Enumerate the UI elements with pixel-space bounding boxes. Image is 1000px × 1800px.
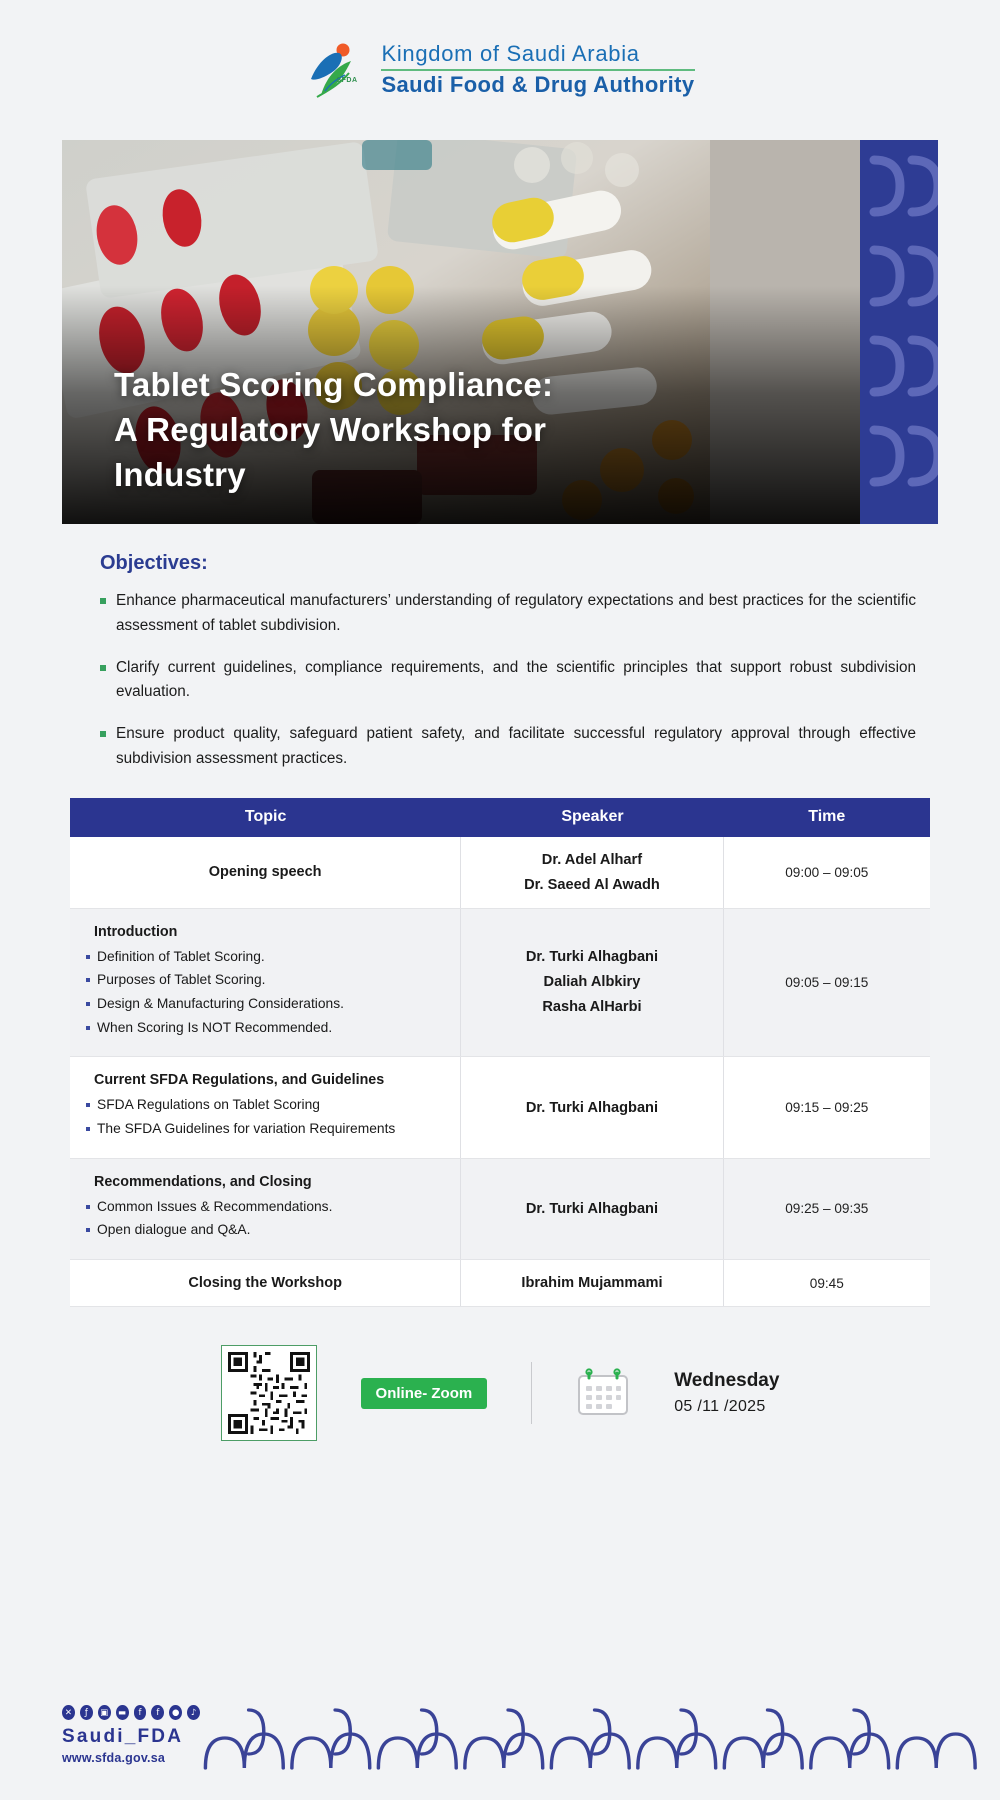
table-row: IntroductionDefinition of Tablet Scoring…: [70, 909, 930, 1058]
page-footer: ✕ƒ▣▬ff●♪ Saudi_FDA www.sfda.gov.sa: [0, 1670, 1000, 1800]
hero-title-line1: Tablet Scoring Compliance:: [114, 363, 820, 408]
bullet-icon: [86, 955, 90, 959]
cell-speaker: Dr. Turki Alhagbani: [461, 1159, 723, 1259]
social-block: ✕ƒ▣▬ff●♪ Saudi_FDA www.sfda.gov.sa: [0, 1705, 200, 1765]
bullet-icon: [100, 665, 106, 671]
time-value: 09:45: [810, 1276, 844, 1291]
social-icon[interactable]: ƒ: [80, 1705, 93, 1720]
topic-title: Opening speech: [86, 852, 444, 893]
topic-bullet-item: When Scoring Is NOT Recommended.: [86, 1018, 444, 1039]
cell-time: 09:25 – 09:35: [724, 1159, 930, 1259]
column-header-topic: Topic: [70, 808, 461, 826]
table-row: Recommendations, and ClosingCommon Issue…: [70, 1159, 930, 1260]
topic-bullet-text: When Scoring Is NOT Recommended.: [97, 1018, 332, 1039]
org-name-line1: Kingdom of Saudi Arabia: [381, 42, 694, 67]
time-value: 09:25 – 09:35: [785, 1201, 868, 1216]
online-zoom-badge[interactable]: Online- Zoom: [361, 1378, 488, 1409]
topic-bullet-item: Purposes of Tablet Scoring.: [86, 970, 444, 991]
topic-bullet-item: Open dialogue and Q&A.: [86, 1220, 444, 1241]
logo-sfda-text: SFDA: [336, 77, 357, 84]
event-day-name: Wednesday: [674, 1367, 779, 1396]
hero-image: Tablet Scoring Compliance: A Regulatory …: [62, 140, 860, 524]
bullet-icon: [100, 731, 106, 737]
speaker-name: Daliah Albkiry: [544, 974, 641, 990]
cell-time: 09:15 – 09:25: [724, 1057, 930, 1157]
topic-bullet-item: SFDA Regulations on Tablet Scoring: [86, 1095, 444, 1116]
social-icon[interactable]: ✕: [62, 1705, 75, 1720]
social-icon[interactable]: ▬: [116, 1705, 129, 1720]
table-body: Opening speechDr. Adel AlharfDr. Saeed A…: [70, 837, 930, 1308]
social-icon[interactable]: f: [151, 1705, 164, 1720]
event-date-value: 05 /11 /2025: [674, 1395, 779, 1419]
speaker-name: Dr. Adel Alharf: [542, 852, 642, 868]
bullet-icon: [86, 1002, 90, 1006]
website-url[interactable]: www.sfda.gov.sa: [62, 1751, 200, 1765]
topic-title: Introduction: [86, 924, 444, 940]
topic-title: Current SFDA Regulations, and Guidelines: [86, 1072, 444, 1088]
topic-bullet-text: SFDA Regulations on Tablet Scoring: [97, 1095, 320, 1116]
objective-text: Ensure product quality, safeguard patien…: [116, 722, 916, 772]
event-date: Wednesday 05 /11 /2025: [674, 1367, 779, 1420]
social-icons[interactable]: ✕ƒ▣▬ff●♪: [62, 1705, 200, 1720]
hero-title-line3: Industry: [114, 453, 820, 498]
hero-side-pattern: [860, 140, 938, 524]
table-row: Current SFDA Regulations, and Guidelines…: [70, 1057, 930, 1158]
bullet-icon: [86, 1228, 90, 1232]
time-value: 09:00 – 09:05: [785, 865, 868, 880]
objective-text: Enhance pharmaceutical manufacturers’ un…: [116, 589, 916, 639]
org-name-line2: Saudi Food & Drug Authority: [381, 73, 694, 98]
social-handle: Saudi_FDA: [62, 1726, 200, 1748]
bullet-icon: [86, 978, 90, 982]
cell-speaker: Dr. Adel AlharfDr. Saeed Al Awadh: [461, 837, 723, 908]
objectives-section: Objectives: Enhance pharmaceutical manuf…: [100, 552, 938, 772]
social-icon[interactable]: ♪: [187, 1705, 200, 1720]
time-value: 09:05 – 09:15: [785, 975, 868, 990]
time-value: 09:15 – 09:25: [785, 1100, 868, 1115]
bullet-icon: [86, 1103, 90, 1107]
cell-topic: IntroductionDefinition of Tablet Scoring…: [70, 909, 461, 1057]
qr-code[interactable]: [221, 1345, 317, 1441]
topic-bullet-text: Open dialogue and Q&A.: [97, 1220, 250, 1241]
column-header-speaker: Speaker: [461, 808, 723, 826]
logo-divider: [381, 69, 694, 71]
table-row: Closing the WorkshopIbrahim Mujammami09:…: [70, 1260, 930, 1307]
brand-header: SFDA Kingdom of Saudi Arabia Saudi Food …: [0, 0, 1000, 140]
social-icon[interactable]: ●: [169, 1705, 182, 1720]
topic-bullet-item: Common Issues & Recommendations.: [86, 1197, 444, 1218]
bullet-icon: [86, 1205, 90, 1209]
cell-topic: Closing the Workshop: [70, 1260, 461, 1306]
sfda-logo-icon: SFDA: [305, 39, 367, 101]
objectives-heading: Objectives:: [100, 552, 938, 575]
agenda-table: Topic Speaker Time Opening speechDr. Ade…: [70, 798, 930, 1308]
objective-text: Clarify current guidelines, compliance r…: [116, 656, 916, 706]
speaker-name: Rasha AlHarbi: [542, 999, 641, 1015]
speaker-name: Dr. Turki Alhagbani: [526, 1100, 658, 1116]
topic-title: Recommendations, and Closing: [86, 1174, 444, 1190]
topic-bullet-text: The SFDA Guidelines for variation Requir…: [97, 1119, 395, 1140]
hero-title-line2: A Regulatory Workshop for: [114, 408, 820, 453]
footer-wave-pattern: [200, 1690, 1000, 1780]
topic-bullet-item: The SFDA Guidelines for variation Requir…: [86, 1119, 444, 1140]
topic-bullet-text: Purposes of Tablet Scoring.: [97, 970, 265, 991]
table-header-row: Topic Speaker Time: [70, 798, 930, 837]
cell-time: 09:00 – 09:05: [724, 837, 930, 908]
bullet-icon: [86, 1026, 90, 1030]
hero-banner: Tablet Scoring Compliance: A Regulatory …: [62, 140, 938, 524]
speaker-name: Dr. Turki Alhagbani: [526, 1201, 658, 1217]
topic-bullet-item: Design & Manufacturing Considerations.: [86, 994, 444, 1015]
topic-title: Closing the Workshop: [86, 1275, 444, 1291]
hero-title: Tablet Scoring Compliance: A Regulatory …: [114, 363, 820, 498]
cell-speaker: Ibrahim Mujammami: [461, 1260, 723, 1306]
cell-speaker: Dr. Turki AlhagbaniDaliah AlbkiryRasha A…: [461, 909, 723, 1057]
objective-item: Clarify current guidelines, compliance r…: [100, 656, 938, 706]
topic-bullet-text: Definition of Tablet Scoring.: [97, 947, 265, 968]
vertical-divider: [531, 1362, 532, 1424]
topic-bullet-item: Definition of Tablet Scoring.: [86, 947, 444, 968]
social-icon[interactable]: f: [134, 1705, 147, 1720]
bullet-icon: [100, 598, 106, 604]
table-row: Opening speechDr. Adel AlharfDr. Saeed A…: [70, 837, 930, 909]
objective-item: Ensure product quality, safeguard patien…: [100, 722, 938, 772]
social-icon[interactable]: ▣: [98, 1705, 111, 1720]
cell-time: 09:05 – 09:15: [724, 909, 930, 1057]
qr-code-icon: [228, 1352, 310, 1434]
cell-topic: Opening speech: [70, 837, 461, 908]
speaker-name: Dr. Turki Alhagbani: [526, 949, 658, 965]
topic-bullet-text: Design & Manufacturing Considerations.: [97, 994, 344, 1015]
cell-time: 09:45: [724, 1260, 930, 1306]
speaker-name: Ibrahim Mujammami: [521, 1275, 662, 1291]
cell-topic: Recommendations, and ClosingCommon Issue…: [70, 1159, 461, 1259]
cell-speaker: Dr. Turki Alhagbani: [461, 1057, 723, 1157]
topic-bullet-text: Common Issues & Recommendations.: [97, 1197, 332, 1218]
cell-topic: Current SFDA Regulations, and Guidelines…: [70, 1057, 461, 1157]
column-header-time: Time: [724, 808, 930, 826]
session-access-info: Online- Zoom Wednesday 05 /11 /2025: [0, 1345, 1000, 1441]
bullet-icon: [86, 1127, 90, 1131]
objective-item: Enhance pharmaceutical manufacturers’ un…: [100, 589, 938, 639]
speaker-name: Dr. Saeed Al Awadh: [524, 877, 660, 893]
calendar-icon: [576, 1368, 630, 1418]
